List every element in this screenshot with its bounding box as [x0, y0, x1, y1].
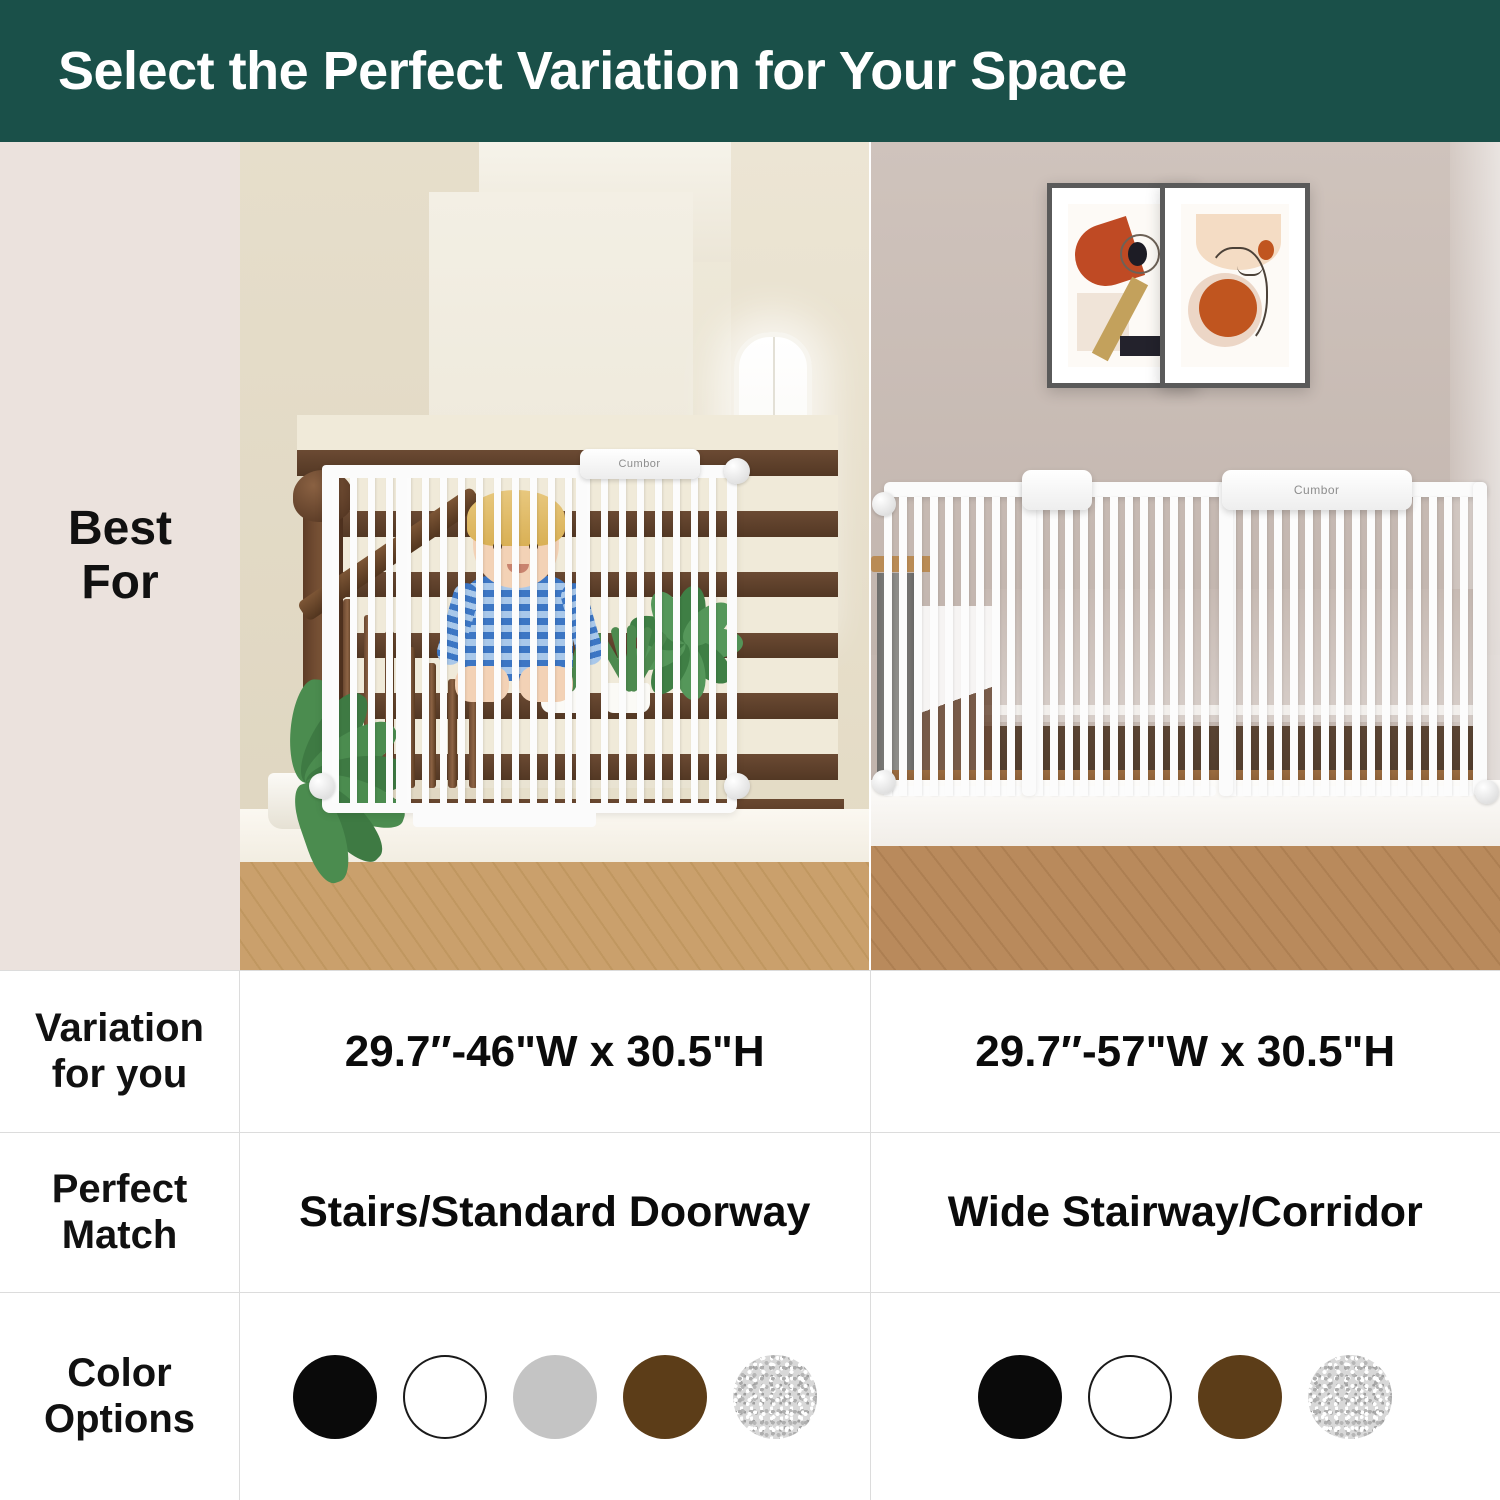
gate-handle: Cumbor [580, 449, 700, 479]
gate2-knob-bottom-left [872, 770, 896, 794]
art2-line-drawing [1205, 247, 1268, 348]
variation-value-right: 29.7″-57"W x 30.5"H [975, 1027, 1395, 1077]
variation-value-left: 29.7″-46"W x 30.5"H [345, 1027, 765, 1077]
gate2-panel-mid [1035, 497, 1216, 797]
gate2-hinge-hub [1022, 470, 1092, 510]
gate2-bar [1274, 497, 1282, 797]
gate2-bar [1095, 497, 1103, 797]
row-label-match-line2: Match [52, 1213, 188, 1259]
gate2-bar [1243, 497, 1251, 797]
gate2-bar [945, 497, 953, 797]
gate2-knob-top-left [872, 492, 896, 516]
gate2-bar [1125, 497, 1133, 797]
safety-gate-wide: Cumbor [884, 482, 1488, 797]
row-label-perfect-match: Perfect Match [0, 1133, 240, 1292]
gate2-bar [1185, 497, 1193, 797]
cell-match-right: Wide Stairway/Corridor [871, 1133, 1500, 1292]
gate2-bar [1352, 497, 1360, 797]
cell-match-left: Stairs/Standard Doorway [240, 1133, 871, 1292]
herringbone-floor-corridor [871, 846, 1500, 970]
gate2-panel-right [1228, 497, 1476, 797]
gate2-bar [1382, 497, 1390, 797]
gate-knob-bottom-right [724, 773, 750, 799]
header-banner: Select the Perfect Variation for Your Sp… [0, 0, 1500, 142]
product-photo-corridor: Cumbor [871, 142, 1500, 970]
row-label-variation: Variation for you [0, 971, 240, 1132]
row-perfect-match: Perfect Match Stairs/Standard Doorway Wi… [0, 1132, 1500, 1292]
gate2-bar [1155, 497, 1163, 797]
brand-logo-wide: Cumbor [1294, 483, 1340, 497]
cell-color-right [871, 1293, 1500, 1500]
cell-right-photo: Cumbor [871, 142, 1500, 970]
gate2-bar [1259, 497, 1267, 797]
gate2-bar [1065, 497, 1073, 797]
gate2-bar [1398, 497, 1406, 797]
gate2-bar [1201, 497, 1209, 797]
gate2-bar [930, 497, 938, 797]
comparison-infographic: Select the Perfect Variation for Your Sp… [0, 0, 1500, 1500]
gate2-bar [899, 497, 907, 797]
safety-gate-narrow: Cumbor [322, 465, 737, 813]
gate2-bar [961, 497, 969, 797]
color-swatch-right-white[interactable] [1088, 1355, 1172, 1439]
gate2-panel-left [884, 497, 1023, 797]
gate2-bar [1080, 497, 1088, 797]
gate2-bar [1305, 497, 1313, 797]
row-label-color-line2: Options [44, 1397, 195, 1443]
gate2-bar [1140, 497, 1148, 797]
row-label-color-line1: Color [44, 1351, 195, 1397]
gate2-bar [992, 497, 1000, 797]
row-label-best-for-line2: For [68, 556, 172, 610]
gate2-bar [884, 497, 892, 797]
gate2-bar [1170, 497, 1178, 797]
page-title: Select the Perfect Variation for Your Sp… [0, 40, 1127, 102]
color-swatch-left-brown[interactable] [623, 1355, 707, 1439]
gate2-bar [1336, 497, 1344, 797]
art-canvas-2 [1181, 204, 1289, 367]
row-label-best-for-line1: Best [68, 502, 172, 556]
row-label-variation-line2: for you [35, 1052, 204, 1098]
gate2-bar [1007, 497, 1015, 797]
color-swatch-left-silver[interactable] [733, 1355, 817, 1439]
gate2-bar [1460, 497, 1468, 797]
gate2-upright-2 [1219, 482, 1233, 797]
gate2-bar [1321, 497, 1329, 797]
color-swatch-left-black[interactable] [293, 1355, 377, 1439]
row-variation: Variation for you 29.7″-46"W x 30.5"H 29… [0, 970, 1500, 1132]
gate2-bar [914, 497, 922, 797]
gate2-upright-1 [1022, 482, 1036, 797]
gate-knob-top-right [724, 458, 750, 484]
match-value-right: Wide Stairway/Corridor [948, 1188, 1423, 1237]
color-swatch-left-gray[interactable] [513, 1355, 597, 1439]
row-label-match-line1: Perfect [52, 1167, 188, 1213]
gate-frame [322, 465, 737, 813]
gate2-bar [976, 497, 984, 797]
row-label-color-options: Color Options [0, 1293, 240, 1500]
comparison-grid: Best For [0, 142, 1500, 1500]
gate-knob-bottom-left [309, 773, 335, 799]
framed-art-lineface [1160, 183, 1310, 388]
gate2-bar [1110, 497, 1118, 797]
color-swatch-left-white[interactable] [403, 1355, 487, 1439]
color-swatch-group-left [293, 1355, 817, 1439]
cell-left-photo: Cumbor [240, 142, 871, 970]
cell-color-left [240, 1293, 871, 1500]
color-swatch-group-right [978, 1355, 1392, 1439]
gate2-bar [1367, 497, 1375, 797]
gate2-upright-3 [1473, 482, 1487, 797]
color-swatch-right-silver[interactable] [1308, 1355, 1392, 1439]
cell-variation-right: 29.7″-57"W x 30.5"H [871, 971, 1500, 1132]
gate2-bar [1050, 497, 1058, 797]
brand-logo: Cumbor [618, 458, 660, 470]
cell-variation-left: 29.7″-46"W x 30.5"H [240, 971, 871, 1132]
color-swatch-right-brown[interactable] [1198, 1355, 1282, 1439]
match-value-left: Stairs/Standard Doorway [299, 1188, 810, 1237]
gate2-handle: Cumbor [1222, 470, 1412, 510]
gate2-bar [1413, 497, 1421, 797]
row-label-best-for: Best For [0, 142, 240, 970]
gate-threshold [413, 805, 596, 827]
color-swatch-right-black[interactable] [978, 1355, 1062, 1439]
gate2-bar [1290, 497, 1298, 797]
art1-dark-oval [1128, 242, 1147, 266]
row-best-for: Best For [0, 142, 1500, 970]
product-photo-stairs: Cumbor [240, 142, 869, 970]
row-label-variation-line1: Variation [35, 1006, 204, 1052]
art1-dark-block [1120, 336, 1164, 356]
gate2-bar [1429, 497, 1437, 797]
gate2-bar [1444, 497, 1452, 797]
row-color-options: Color Options [0, 1292, 1500, 1500]
